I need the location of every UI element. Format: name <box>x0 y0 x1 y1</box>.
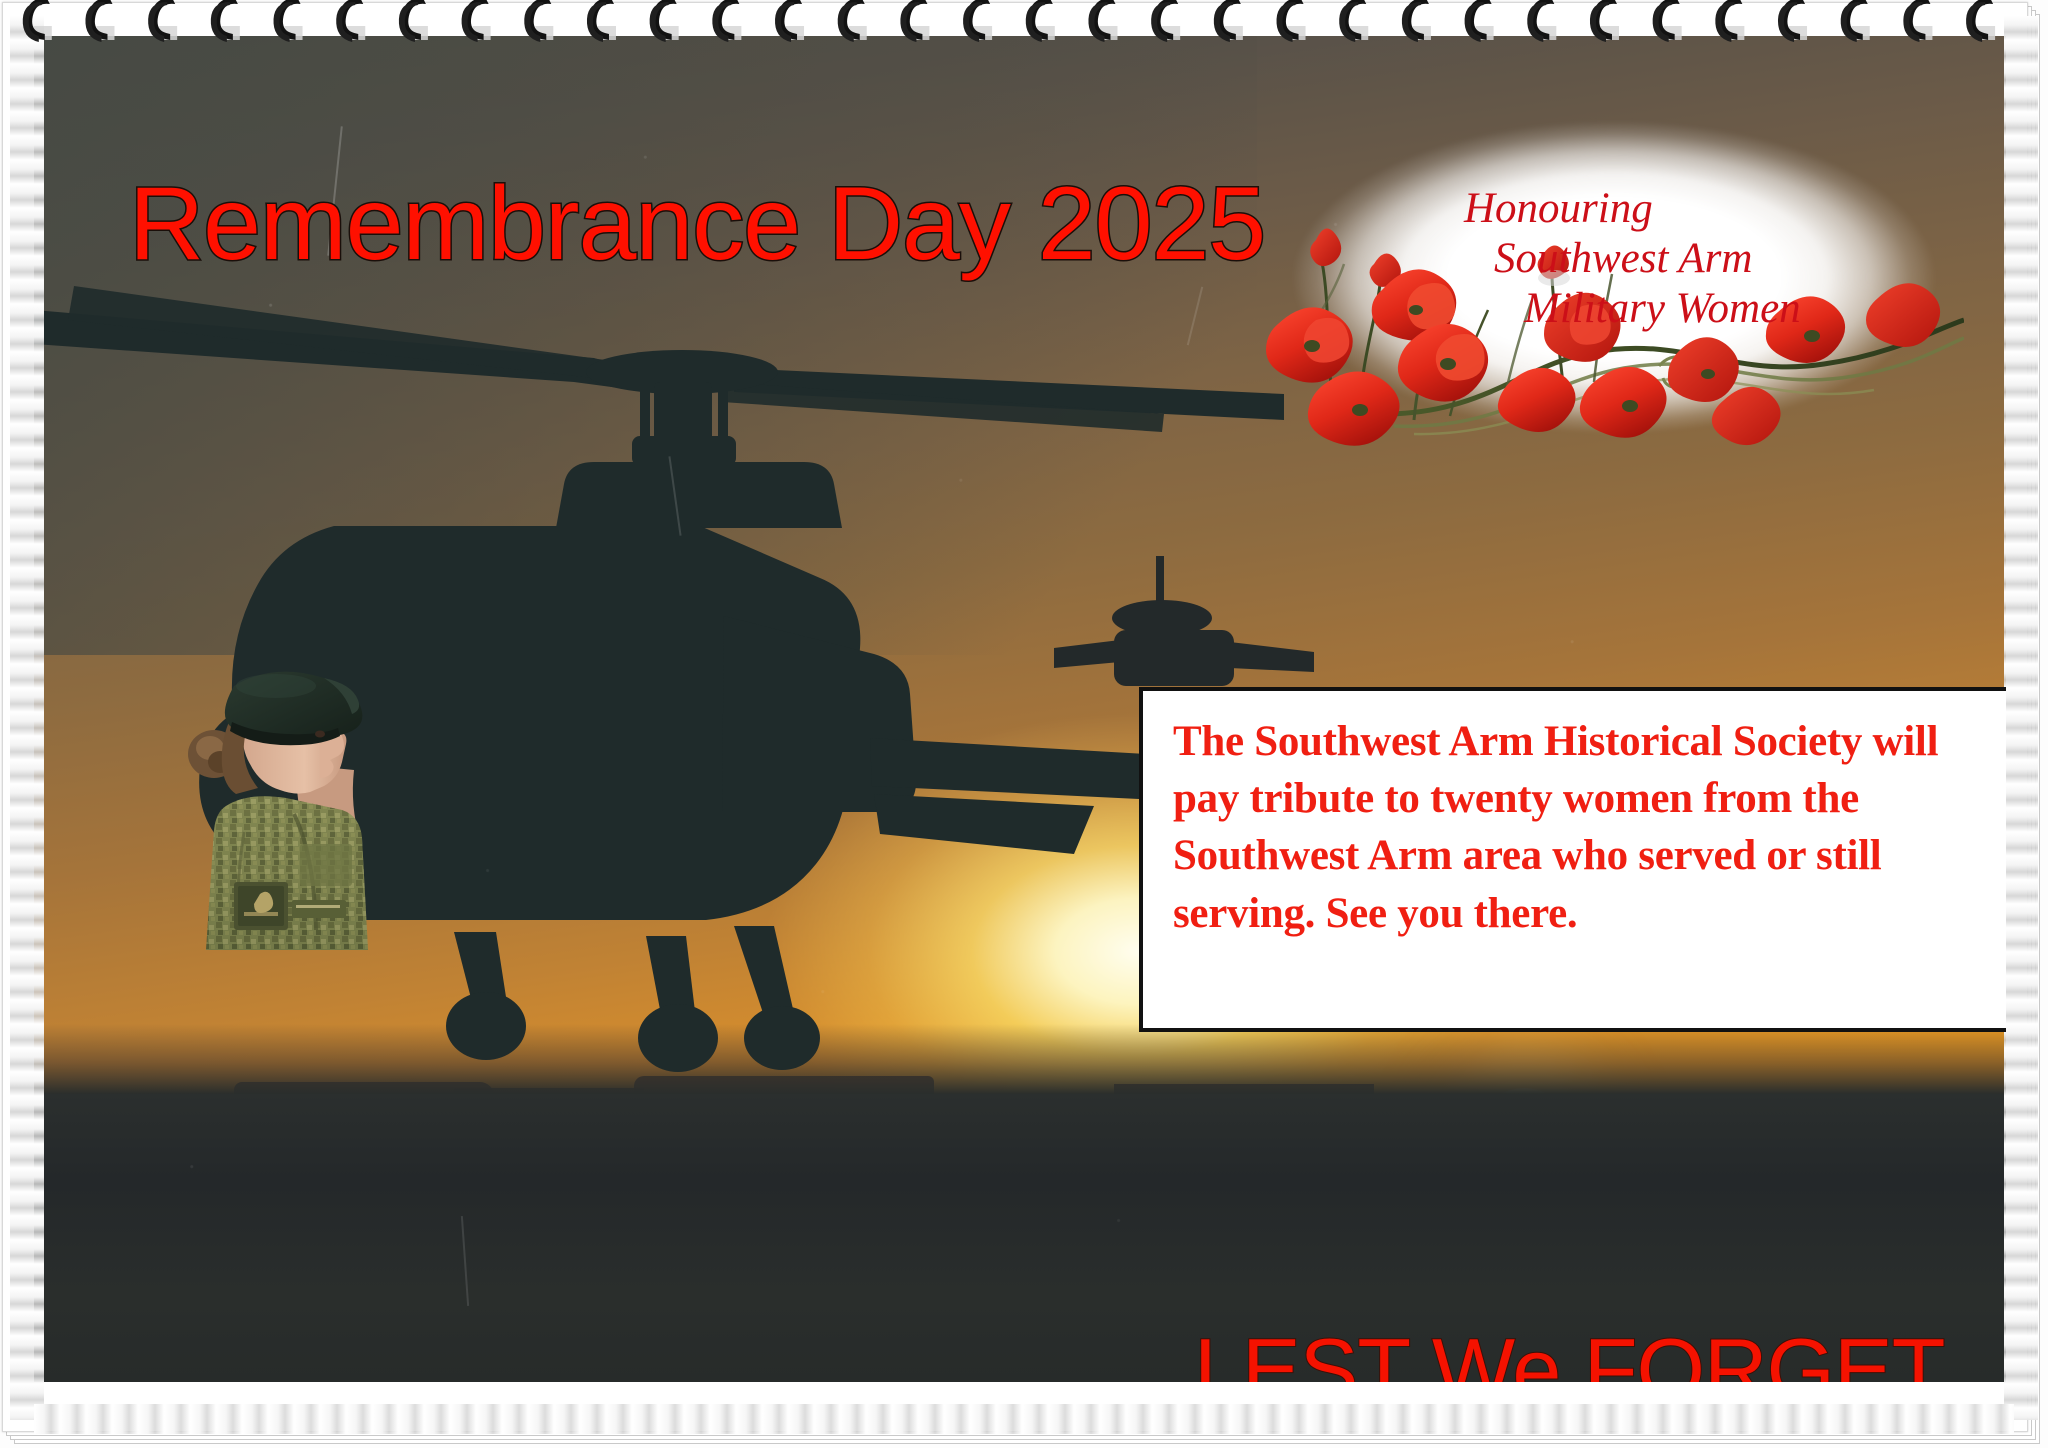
poppy-bloom <box>1266 307 1353 382</box>
poppy-bloom <box>1308 371 1400 445</box>
honouring-block: Honouring Southwest Arm Military Women <box>1464 184 1934 334</box>
poppy-bloom <box>1668 337 1739 402</box>
announcement-text: The Southwest Arm Historical Society wil… <box>1173 713 1986 942</box>
poster-photo: Remembrance Day 2025 Honouring Southwest… <box>34 36 2006 1382</box>
poppy-bud <box>1310 228 1341 266</box>
honouring-line-2: Southwest Arm <box>1494 234 1934 284</box>
lest-we-forget-text: LEST We FORGET <box>1194 1326 1944 1382</box>
honouring-line-1: Honouring <box>1464 184 1934 234</box>
announcement-box: The Southwest Arm Historical Society wil… <box>1139 687 2006 1032</box>
page-title: Remembrance Day 2025 <box>129 172 1265 276</box>
spiral-binding <box>0 0 2048 44</box>
honouring-line-3: Military Women <box>1524 284 1934 334</box>
poppy-bloom <box>1580 367 1667 438</box>
calendar-page: Remembrance Day 2025 Honouring Southwest… <box>0 0 2048 1448</box>
